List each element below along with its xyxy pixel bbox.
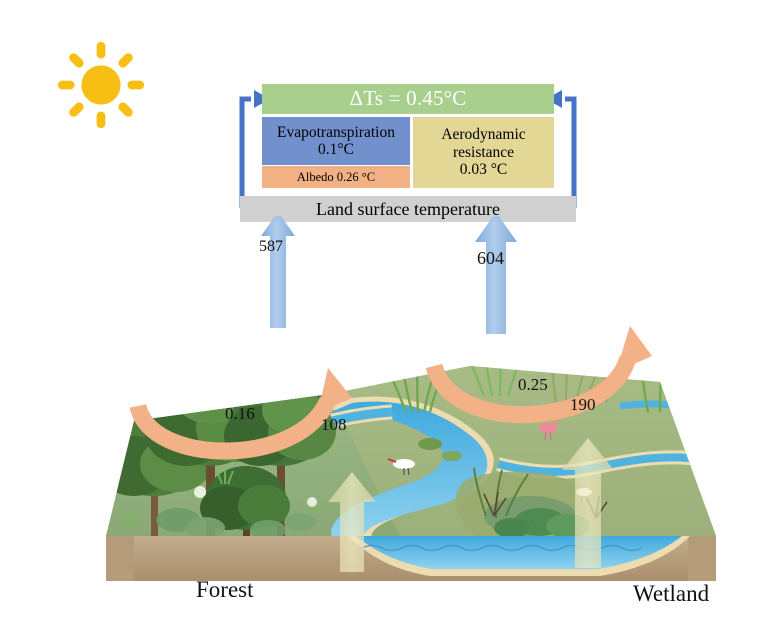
sun-icon <box>52 36 150 134</box>
albedo-label: Albedo 0.26 °C <box>297 170 375 184</box>
forest-label: Forest <box>196 577 254 603</box>
forest-secondary-flux-label: 108 <box>321 415 347 435</box>
albedo-box: Albedo 0.26 °C <box>262 166 410 188</box>
aerodynamic-label-line2: resistance <box>441 144 525 161</box>
forest-curved-flux-label: 0.16 <box>225 404 255 424</box>
evapotranspiration-box: Evapotranspiration 0.1°C <box>262 117 410 165</box>
wetland-label: Wetland <box>633 581 709 607</box>
delta-ts-label: ΔTs = 0.45°C <box>350 87 467 111</box>
forest-vertical-arrow <box>261 216 295 328</box>
wetland-secondary-flux-label: 190 <box>570 395 596 415</box>
evapotranspiration-label: Evapotranspiration <box>277 124 395 141</box>
landscape-illustration <box>0 216 760 637</box>
delta-ts-box: ΔTs = 0.45°C <box>262 84 554 114</box>
aerodynamic-label-line1: Aerodynamic <box>441 126 525 143</box>
wetland-vertical-flux-label: 604 <box>477 248 504 269</box>
wetland-vertical-arrow <box>475 216 517 334</box>
wetland-curved-flux-label: 0.25 <box>518 375 548 395</box>
aerodynamic-value: 0.03 °C <box>441 161 525 178</box>
feedback-diagram: ΔTs = 0.45°C Evapotranspiration 0.1°C Al… <box>218 84 598 222</box>
aerodynamic-resistance-box: Aerodynamic resistance 0.03 °C <box>413 117 554 188</box>
evapotranspiration-value: 0.1°C <box>277 141 395 158</box>
forest-vertical-flux-label: 587 <box>259 238 283 256</box>
figure-canvas: ΔTs = 0.45°C Evapotranspiration 0.1°C Al… <box>0 0 760 637</box>
